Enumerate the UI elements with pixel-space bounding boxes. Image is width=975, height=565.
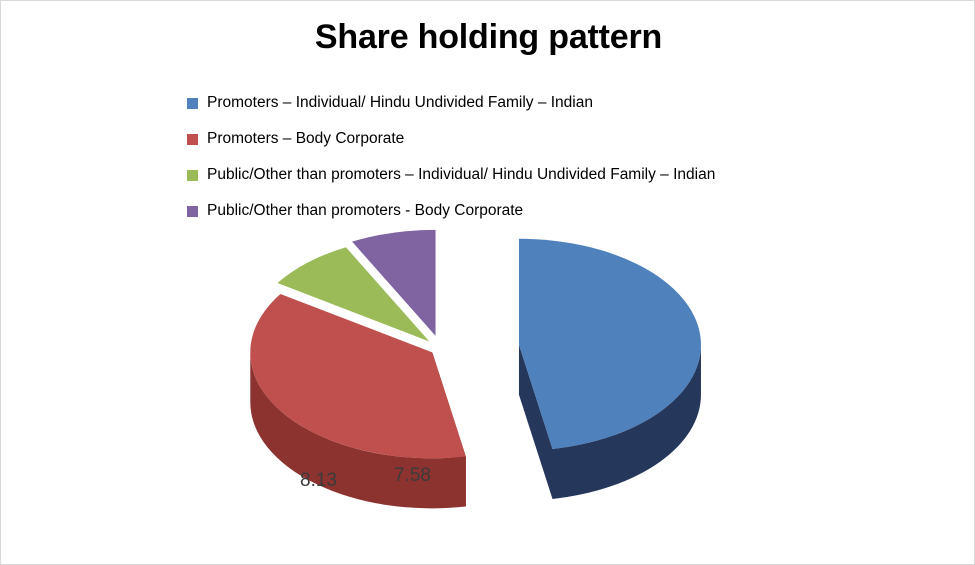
legend-swatch-icon — [187, 134, 198, 145]
chart-container: Share holding pattern Promoters – Indivi… — [0, 0, 975, 565]
legend-item-public-individual-huf[interactable]: Public/Other than promoters – Individual… — [187, 157, 887, 193]
legend-item-promoters-individual-huf[interactable]: Promoters – Individual/ Hindu Undivided … — [187, 85, 887, 121]
data-label-slice-2: 8.13 — [300, 470, 337, 492]
pie-3d-svg — [1, 229, 975, 549]
legend-item-label: Promoters – Individual/ Hindu Undivided … — [207, 94, 593, 112]
chart-title: Share holding pattern — [1, 18, 975, 57]
legend-item-label: Public/Other than promoters - Body Corpo… — [207, 202, 523, 220]
legend-swatch-icon — [187, 98, 198, 109]
legend-item-promoters-body-corporate[interactable]: Promoters – Body Corporate — [187, 121, 887, 157]
legend-item-label: Promoters – Body Corporate — [207, 130, 404, 148]
data-label-slice-3: 7.58 — [394, 465, 431, 487]
legend-item-label: Public/Other than promoters – Individual… — [207, 166, 715, 184]
legend-item-public-body-corporate[interactable]: Public/Other than promoters - Body Corpo… — [187, 193, 887, 229]
legend-swatch-icon — [187, 206, 198, 217]
chart-legend: Promoters – Individual/ Hindu Undivided … — [187, 85, 887, 229]
pie-plot-area: 47.05 37.24 8.13 7.58 — [1, 229, 975, 549]
legend-swatch-icon — [187, 170, 198, 181]
